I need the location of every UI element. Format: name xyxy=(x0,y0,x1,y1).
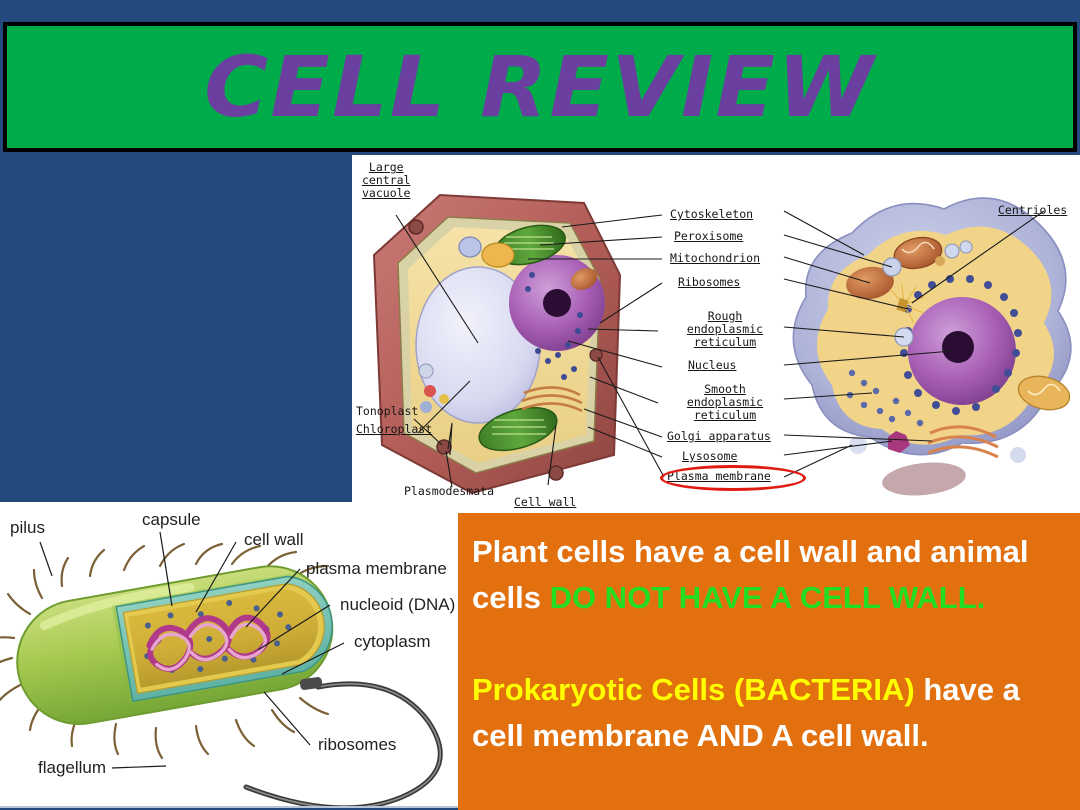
label-ribosomes: Ribosomes xyxy=(678,276,740,289)
label-nucleus: Nucleus xyxy=(688,359,736,372)
label-pilus: pilus xyxy=(10,518,45,538)
label-peroxisome: Peroxisome xyxy=(674,230,743,243)
label-tonoplast: Tonoplast xyxy=(356,405,418,418)
callout-paragraph-1: Plant cells have a cell wall and animal … xyxy=(472,529,1066,621)
label-large-central-vacuole: Large central vacuole xyxy=(362,161,410,200)
label-cell-wall: Cell wall xyxy=(514,496,576,509)
callout-paragraph-2: Prokaryotic Cells (BACTERIA) have a cell… xyxy=(472,667,1066,759)
callout-p2-yellow: Prokaryotic Cells (BACTERIA) xyxy=(472,672,923,707)
label-bact-plasma-membrane: plasma membrane xyxy=(306,559,447,579)
callout-box: Plant cells have a cell wall and animal … xyxy=(458,513,1080,810)
label-rough-endoplasmic-reticulum: Rough endoplasmic reticulum xyxy=(670,310,780,349)
label-cytoplasm: cytoplasm xyxy=(354,632,431,652)
label-bact-cell-wall: cell wall xyxy=(244,530,304,550)
page-title: CELL REVIEW xyxy=(204,45,876,129)
label-golgi-apparatus: Golgi apparatus xyxy=(667,430,771,443)
label-nucleoid-dna: nucleoid (DNA) xyxy=(340,595,455,615)
prokaryotic-cell-diagram: pilus capsule cell wall plasma membrane … xyxy=(0,502,458,808)
eukaryotic-cell-diagram: Large central vacuole Tonoplast Chloropl… xyxy=(352,155,1080,513)
label-lysosome: Lysosome xyxy=(682,450,737,463)
title-banner: CELL REVIEW xyxy=(3,22,1077,152)
callout-p1-green: DO NOT HAVE A CELL WALL. xyxy=(550,580,986,615)
animal-cell-art xyxy=(793,198,1073,499)
plasma-membrane-highlight-ellipse xyxy=(660,465,806,491)
label-centrioles: Centrioles xyxy=(998,204,1067,217)
plant-cell-art xyxy=(374,195,620,493)
label-mitochondrion: Mitochondrion xyxy=(670,252,760,265)
label-flagellum: flagellum xyxy=(38,758,106,778)
label-capsule: capsule xyxy=(142,510,201,530)
label-chloroplast: Chloroplast xyxy=(356,423,432,436)
bottom-divider xyxy=(0,806,458,808)
label-cytoskeleton: Cytoskeleton xyxy=(670,208,753,221)
label-bact-ribosomes: ribosomes xyxy=(318,735,396,755)
label-plasmodesmata: Plasmodesmata xyxy=(404,485,494,498)
label-smooth-endoplasmic-reticulum: Smooth endoplasmic reticulum xyxy=(670,383,780,422)
